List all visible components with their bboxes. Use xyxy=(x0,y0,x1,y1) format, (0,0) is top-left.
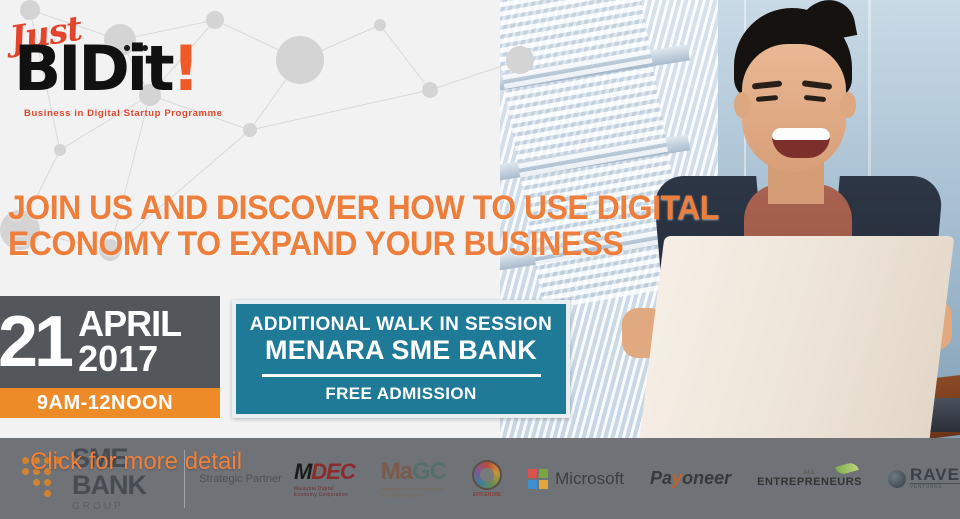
logo-bid: BID xyxy=(14,32,127,105)
event-month: APRIL xyxy=(78,307,181,341)
microsoft-squares-icon xyxy=(528,469,548,489)
event-time-bar: 9AM-12NOON xyxy=(0,388,220,418)
payoneer-pre: Pa xyxy=(650,468,672,488)
event-day: 21 xyxy=(0,307,70,377)
rave-wordmark: RAVE xyxy=(910,467,960,483)
headline-line-1: JOIN US AND DISCOVER HOW TO USE DIGITAL xyxy=(8,190,751,226)
microsoft-logo: Microsoft xyxy=(528,469,624,489)
session-admission: FREE ADMISSION xyxy=(325,384,476,404)
entrepreneurs-wordmark: ENTREPRENEURS xyxy=(757,476,862,488)
payoneer-accent: y xyxy=(672,468,682,488)
magc-accent: GC xyxy=(412,458,446,485)
payoneer-logo: Payoneer xyxy=(650,468,731,489)
session-divider xyxy=(262,374,541,377)
globe-icon xyxy=(888,470,906,488)
logo-wordmark: BIDit! xyxy=(14,38,197,100)
logo-tagline: Business in Digital Startup Programme xyxy=(24,108,223,119)
bidit-logo: Just BIDit! Business in Digital Startup … xyxy=(6,10,236,120)
rave-subtitle: VENTURES xyxy=(910,483,960,490)
session-venue: MENARA SME BANK xyxy=(265,335,537,366)
circle-partner-icon xyxy=(472,460,502,490)
sme-label-suffix: GROUP xyxy=(72,502,146,512)
magc-main: Ma xyxy=(381,458,412,485)
event-month-year: APRIL 2017 xyxy=(78,307,181,377)
leaf-icon xyxy=(835,461,859,476)
event-year: 2017 xyxy=(78,341,181,377)
partner-logo-row: MDEC Malaysia Digital Economy Corporatio… xyxy=(294,458,960,499)
session-info-box: ADDITIONAL WALK IN SESSION MENARA SME BA… xyxy=(232,300,570,418)
mdec-subtitle: Malaysia Digital Economy Corporation xyxy=(294,486,355,498)
circle-partner-logo: EPICENTRE xyxy=(472,460,502,498)
click-for-more-detail-label[interactable]: Click for more detail xyxy=(30,448,242,476)
logo-bang: ! xyxy=(172,32,197,105)
microsoft-wordmark: Microsoft xyxy=(555,469,624,489)
sme-label-bottom: BANK xyxy=(72,472,146,499)
event-date-block: 21 APRIL 2017 xyxy=(0,296,220,388)
entrepreneurs-logo: ALL ENTREPRENEURS xyxy=(757,470,862,488)
mdec-main: M xyxy=(294,459,311,484)
payoneer-post: oneer xyxy=(682,468,731,488)
page-title: JOIN US AND DISCOVER HOW TO USE DIGITAL … xyxy=(8,190,751,262)
magc-logo: MaGC Malaysian Global Innovation & Creat… xyxy=(381,458,446,499)
session-heading: ADDITIONAL WALK IN SESSION xyxy=(250,314,552,336)
logo-it: it xyxy=(127,32,172,105)
mdec-accent: DEC xyxy=(311,459,354,484)
circle-partner-subtitle: EPICENTRE xyxy=(473,492,502,498)
mdec-logo: MDEC Malaysia Digital Economy Corporatio… xyxy=(294,459,355,498)
magc-subtitle: Malaysian Global Innovation & Creativity… xyxy=(381,487,446,499)
laptop-lid xyxy=(636,236,955,470)
promo-banner[interactable]: Just BIDit! Business in Digital Startup … xyxy=(0,0,960,519)
rave-logo: RAVE VENTURES xyxy=(888,467,960,490)
headline-line-2: ECONOMY TO EXPAND YOUR BUSINESS xyxy=(8,226,751,262)
